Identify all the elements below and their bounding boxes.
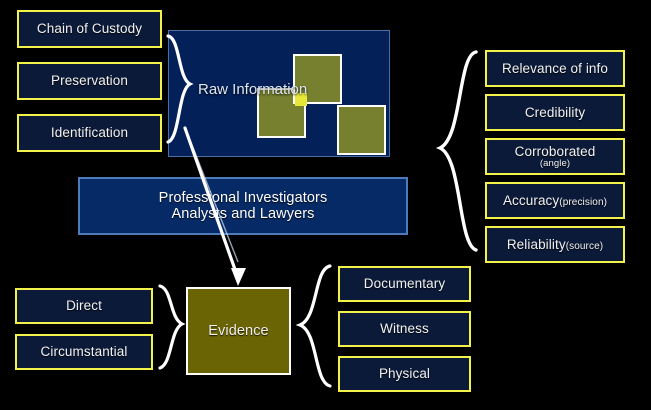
brace-evidence-left: [160, 286, 182, 368]
box-reliability[interactable]: Reliability(source): [485, 226, 625, 263]
box-label: Corroborated: [515, 144, 596, 159]
box-identification[interactable]: Identification: [17, 114, 162, 152]
box-accuracy[interactable]: Accuracy(precision): [485, 182, 625, 219]
box-witness[interactable]: Witness: [338, 311, 471, 347]
box-label: Direct: [66, 298, 102, 313]
professional-investigators-panel[interactable]: Professional Investigators Analysts and …: [78, 177, 408, 235]
arrow-to-evidence-head: [231, 268, 246, 286]
box-label: Accuracy: [503, 193, 559, 208]
brace-right-column: [440, 52, 476, 250]
evidence-label: Evidence: [208, 323, 268, 339]
box-label: Documentary: [364, 276, 445, 291]
olive-square-right: [337, 105, 386, 155]
box-relevance-of-info[interactable]: Relevance of info: [485, 50, 625, 87]
raw-information-label: Raw Information: [198, 81, 307, 98]
box-sublabel: (angle): [540, 159, 570, 169]
panel-line-2: Analysts and Lawyers: [171, 206, 314, 222]
box-credibility[interactable]: Credibility: [485, 94, 625, 131]
box-preservation[interactable]: Preservation: [17, 62, 162, 100]
box-direct[interactable]: Direct: [15, 288, 153, 324]
box-label-row: Accuracy(precision): [503, 193, 607, 208]
box-physical[interactable]: Physical: [338, 356, 471, 392]
diagram-canvas: Raw Information Chain of Custody Preserv…: [0, 0, 651, 410]
box-label: Physical: [379, 366, 430, 381]
box-label: Circumstantial: [41, 344, 128, 359]
brace-evidence-right: [300, 266, 330, 386]
box-label-row: Reliability(source): [507, 237, 603, 252]
evidence-box[interactable]: Evidence: [186, 287, 291, 375]
box-label: Witness: [380, 321, 429, 336]
box-sublabel: (source): [566, 241, 603, 252]
box-label: Relevance of info: [502, 61, 608, 76]
box-sublabel: (precision): [559, 197, 607, 208]
box-label: Preservation: [51, 73, 128, 88]
box-corroborated[interactable]: Corroborated (angle): [485, 138, 625, 175]
box-label: Reliability: [507, 237, 566, 252]
box-label: Identification: [51, 125, 128, 140]
box-documentary[interactable]: Documentary: [338, 266, 471, 302]
box-label: Chain of Custody: [37, 21, 142, 36]
box-circumstantial[interactable]: Circumstantial: [15, 334, 153, 370]
panel-line-1: Professional Investigators: [159, 190, 328, 206]
box-chain-of-custody[interactable]: Chain of Custody: [17, 10, 162, 48]
box-label: Credibility: [525, 105, 585, 120]
